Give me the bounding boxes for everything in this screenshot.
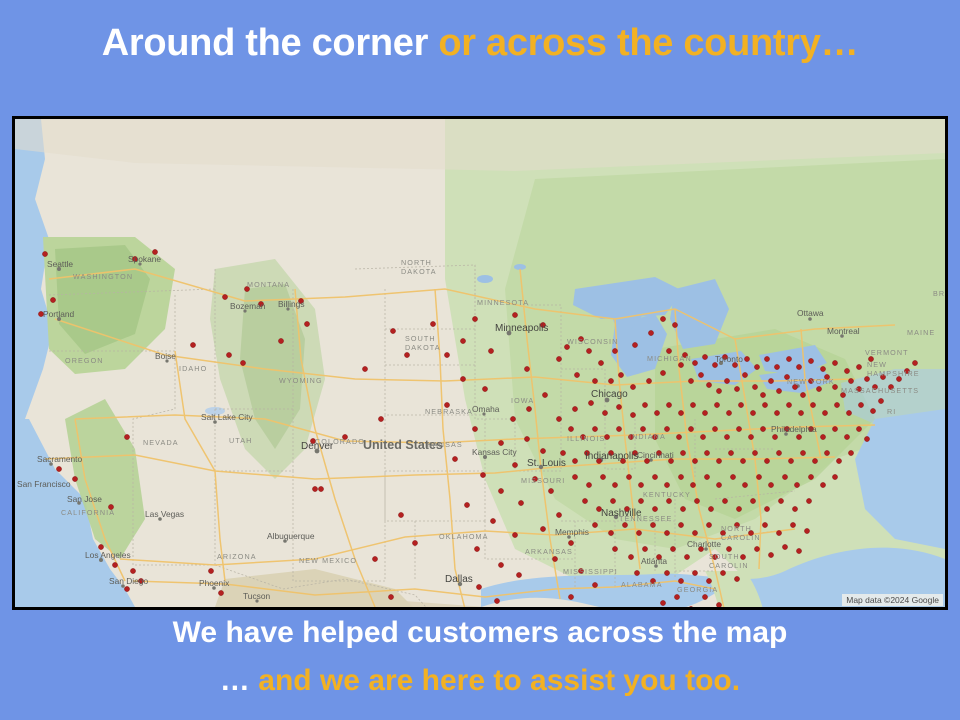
caption-line-2-text: and we are here to assist you too. — [258, 664, 740, 697]
svg-text:Cincinnati: Cincinnati — [637, 450, 674, 460]
svg-text:Charlotte: Charlotte — [687, 539, 721, 549]
svg-text:Indianapolis: Indianapolis — [585, 451, 638, 462]
svg-text:IDAHO: IDAHO — [179, 364, 207, 373]
svg-text:RI: RI — [887, 407, 896, 416]
svg-text:MISSOURI: MISSOURI — [521, 476, 565, 485]
svg-text:CAROLIN: CAROLIN — [721, 533, 761, 542]
svg-text:MINNESOTA: MINNESOTA — [477, 298, 529, 307]
svg-text:Dallas: Dallas — [445, 574, 473, 585]
svg-text:Chicago: Chicago — [591, 389, 628, 400]
svg-text:Montreal: Montreal — [827, 326, 860, 336]
svg-text:Seattle: Seattle — [47, 259, 73, 269]
svg-text:OREGON: OREGON — [65, 356, 104, 365]
svg-text:Philadelphia: Philadelphia — [771, 424, 817, 434]
svg-text:San Francisco: San Francisco — [17, 479, 71, 489]
svg-text:NEW MEXICO: NEW MEXICO — [299, 556, 357, 565]
svg-text:Billings: Billings — [278, 299, 305, 309]
svg-text:TEXAS: TEXAS — [423, 605, 452, 607]
svg-text:St. Louis: St. Louis — [527, 458, 566, 469]
svg-text:NEW: NEW — [867, 360, 887, 369]
svg-text:Phoenix: Phoenix — [199, 578, 230, 588]
svg-text:ILLINOIS: ILLINOIS — [567, 434, 605, 443]
slide-root: Around the corner or across the country… — [0, 0, 960, 720]
svg-text:VERMONT: VERMONT — [865, 348, 909, 357]
svg-text:NEW YORK: NEW YORK — [787, 377, 835, 386]
svg-text:SOUTH: SOUTH — [709, 552, 740, 561]
svg-text:NEVADA: NEVADA — [143, 438, 179, 447]
svg-text:Spokane: Spokane — [128, 254, 161, 264]
svg-text:NEBRASKA: NEBRASKA — [425, 407, 473, 416]
svg-text:BR: BR — [933, 289, 945, 298]
svg-text:UTAH: UTAH — [229, 436, 252, 445]
map-graphic: United States WASHINGTON MONTANA NORTH D… — [15, 119, 945, 607]
svg-text:San Jose: San Jose — [67, 494, 102, 504]
svg-text:SOUTH: SOUTH — [405, 334, 436, 343]
svg-text:WISCONSIN: WISCONSIN — [567, 337, 618, 346]
svg-text:NORTH: NORTH — [721, 524, 752, 533]
headline-white: Around the corner — [102, 22, 439, 64]
svg-text:Bozeman: Bozeman — [230, 301, 266, 311]
svg-text:GEORGIA: GEORGIA — [677, 585, 718, 594]
caption-line-2: … and we are here to assist you too. — [0, 664, 960, 698]
svg-text:Salt Lake City: Salt Lake City — [201, 412, 253, 422]
caption-ellipsis: … — [220, 664, 258, 697]
svg-text:KANSAS: KANSAS — [427, 440, 463, 449]
svg-text:Toronto: Toronto — [715, 354, 743, 364]
map-attribution: Map data ©2024 Google — [842, 594, 943, 606]
svg-text:ALABAMA: ALABAMA — [621, 580, 663, 589]
svg-text:DAKOTA: DAKOTA — [401, 267, 437, 276]
svg-text:CAROLIN: CAROLIN — [709, 561, 749, 570]
map-frame[interactable]: United States WASHINGTON MONTANA NORTH D… — [12, 116, 948, 610]
svg-text:OKLAHOMA: OKLAHOMA — [439, 532, 489, 541]
headline-gold: or across the country… — [438, 22, 858, 64]
svg-text:MAINE: MAINE — [907, 328, 935, 337]
svg-text:Tucson: Tucson — [243, 591, 270, 601]
map-canvas[interactable]: United States WASHINGTON MONTANA NORTH D… — [15, 119, 945, 607]
svg-text:Boise: Boise — [155, 351, 176, 361]
svg-text:DAKOTA: DAKOTA — [405, 343, 441, 352]
svg-text:Denver: Denver — [301, 441, 334, 452]
svg-text:INDIANA: INDIANA — [629, 432, 666, 441]
svg-text:ARIZONA: ARIZONA — [217, 552, 257, 561]
caption-line-1: We have helped customers across the map — [0, 616, 960, 650]
svg-text:Albuquerque: Albuquerque — [267, 531, 315, 541]
svg-text:Portland: Portland — [43, 309, 75, 319]
svg-text:Nashville: Nashville — [601, 508, 642, 519]
svg-text:Los Angeles: Los Angeles — [85, 550, 131, 560]
svg-text:CALIFORNIA: CALIFORNIA — [61, 508, 115, 517]
svg-text:NORTH: NORTH — [401, 258, 432, 267]
svg-text:KENTUCKY: KENTUCKY — [643, 490, 691, 499]
svg-text:HAMPSHIRE: HAMPSHIRE — [867, 369, 920, 378]
svg-text:MISSISSIPPI: MISSISSIPPI — [563, 567, 618, 576]
svg-text:Las Vegas: Las Vegas — [145, 509, 184, 519]
svg-text:IOWA: IOWA — [511, 396, 534, 405]
svg-text:Kansas City: Kansas City — [472, 447, 517, 457]
svg-text:MONTANA: MONTANA — [247, 280, 290, 289]
svg-text:Atlánta: Atlánta — [641, 556, 667, 566]
svg-text:San Diego: San Diego — [109, 576, 148, 586]
svg-text:Omaha: Omaha — [472, 404, 500, 414]
svg-text:MICHIGAN: MICHIGAN — [647, 354, 692, 363]
svg-text:Ottawa: Ottawa — [797, 308, 824, 318]
svg-text:MASSACHUSETTS: MASSACHUSETTS — [841, 386, 919, 395]
page-title: Around the corner or across the country… — [0, 22, 960, 65]
svg-text:ARKANSAS: ARKANSAS — [525, 547, 573, 556]
svg-text:Memphis: Memphis — [555, 527, 589, 537]
svg-text:WYOMING: WYOMING — [279, 376, 323, 385]
svg-text:Sacramento: Sacramento — [37, 454, 82, 464]
svg-text:Minneapolis: Minneapolis — [495, 323, 548, 334]
svg-text:WASHINGTON: WASHINGTON — [73, 272, 133, 281]
